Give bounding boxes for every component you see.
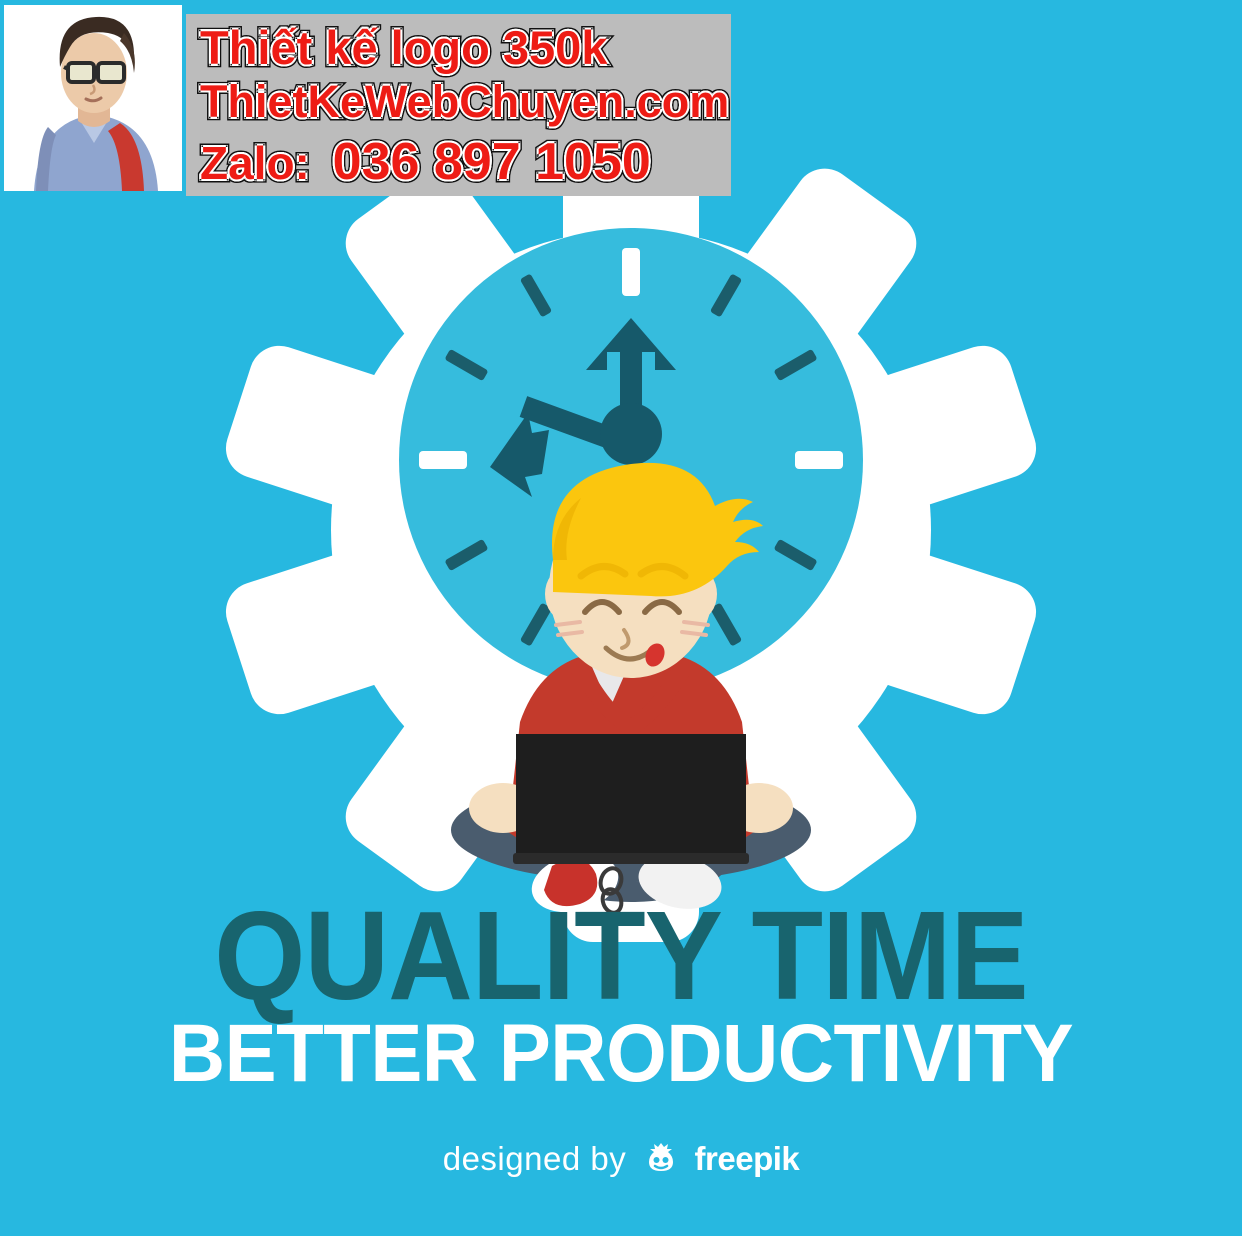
wm3-label-over: Zalo:	[200, 137, 310, 189]
watermark-overlay: Thiết kế logo 350k Thiết kế logo 350k Th…	[0, 0, 731, 196]
wm1-over: Thiết kế logo 350k	[200, 21, 607, 74]
credit-prefix: designed by	[443, 1140, 626, 1177]
watermark-line-3: Zalo: Zalo: Zalo: 036 897 1050 036 897 1…	[200, 132, 731, 192]
clock-center-cap	[600, 403, 662, 465]
wm2-over: ThietKeWebChuyen.com	[200, 76, 729, 127]
watermark-portrait-photo	[4, 5, 182, 191]
watermark-line-2: ThietKeWebChuyen.com ThietKeWebChuyen.co…	[200, 76, 731, 128]
watermark-line-1: Thiết kế logo 350k Thiết kế logo 350k Th…	[200, 20, 731, 75]
poster-canvas: QUALITY TIME BETTER PRODUCTIVITY designe…	[0, 0, 1242, 1236]
laptop	[513, 734, 749, 864]
freepik-credit: designed by freepik	[0, 1139, 1242, 1179]
credit-brand: freepik	[695, 1140, 800, 1177]
watermark-banner: Thiết kế logo 350k Thiết kế logo 350k Th…	[186, 14, 731, 196]
freepik-smiley-icon	[644, 1140, 678, 1174]
wm3-phone-over: 036 897 1050	[333, 133, 651, 191]
